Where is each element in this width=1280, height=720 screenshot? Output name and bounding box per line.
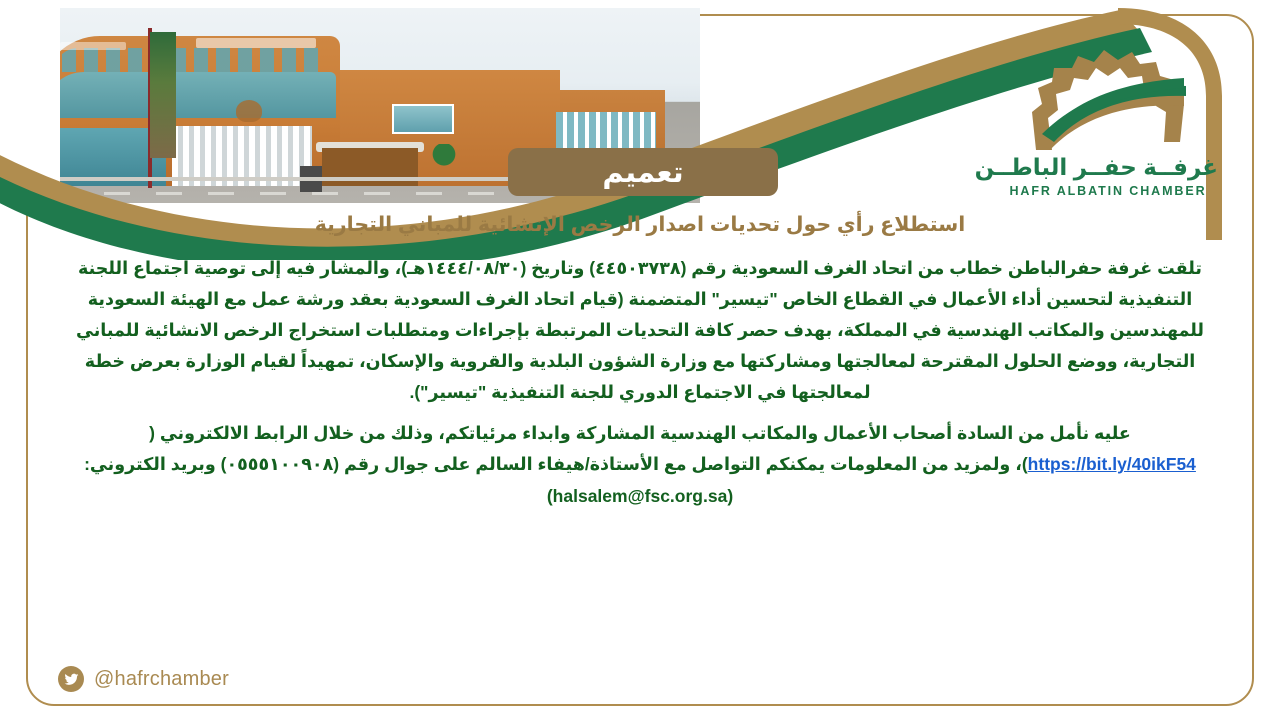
twitter-handle-label[interactable]: @hafrchamber: [94, 668, 229, 691]
document-body: استطلاع رأي حول تحديات اصدار الرخص الإنش…: [70, 212, 1210, 516]
closing-lead-text: عليه نأمل من السادة أصحاب الأعمال والمكا…: [160, 423, 1131, 443]
frame-mask: [0, 0, 60, 195]
link-close-paren: )،: [1015, 454, 1027, 474]
contact-text: ولمزيد من المعلومات يمكنكم التواصل مع ال…: [344, 454, 1010, 474]
link-open-paren: (: [149, 423, 155, 443]
paragraph-main: تلقت غرفة حفرالباطن خطاب من اتحاد الغرف …: [70, 253, 1210, 409]
contact-email: (halsalem@fsc.org.sa): [547, 481, 733, 512]
circular-badge: تعميم: [508, 148, 778, 196]
logo-name-english: HAFR ALBATIN CHAMBER: [998, 184, 1218, 198]
logo-name-arabic: غرفــة حفــر الباطــن: [998, 154, 1218, 181]
contact-phone: (٠٥٥٥١٠٠٩٠٨): [221, 449, 339, 480]
survey-link[interactable]: https://bit.ly/40ikF54: [1028, 449, 1196, 480]
twitter-handle-group[interactable]: @hafrchamber: [58, 666, 229, 692]
paragraph-closing: عليه نأمل من السادة أصحاب الأعمال والمكا…: [70, 418, 1210, 511]
logo-mark-icon: [998, 38, 1218, 158]
announcement-page: غرفــة حفــر الباطــن HAFR ALBATIN CHAMB…: [0, 0, 1280, 720]
page-title: استطلاع رأي حول تحديات اصدار الرخص الإنش…: [70, 212, 1210, 239]
chamber-logo: غرفــة حفــر الباطــن HAFR ALBATIN CHAMB…: [998, 38, 1218, 208]
twitter-icon[interactable]: [58, 666, 84, 692]
email-label: وبريد الكتروني:: [84, 454, 216, 474]
